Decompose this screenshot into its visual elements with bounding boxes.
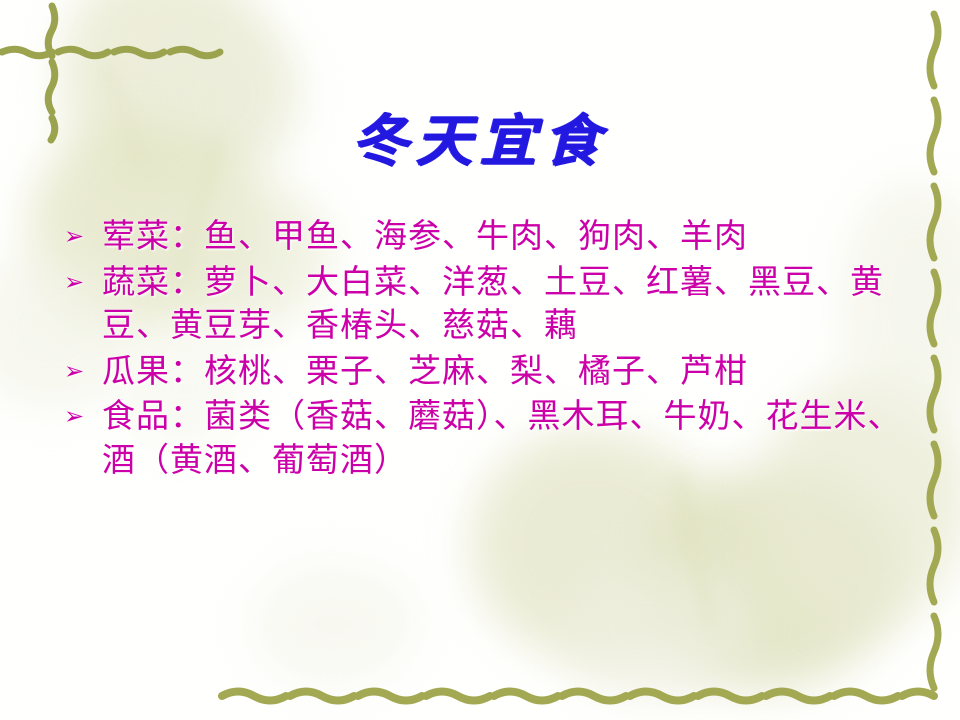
list-item[interactable]: ➢ 蔬菜：萝卜、大白菜、洋葱、土豆、红薯、黑豆、黄豆、黄豆芽、香椿头、慈菇、藕	[64, 260, 916, 347]
arrow-bullet-icon: ➢	[64, 349, 102, 383]
floral-watermark-blob	[250, 560, 420, 690]
arrow-bullet-icon: ➢	[64, 214, 102, 248]
list-item-text: 食品：菌类（香菇、蘑菇）、黑木耳、牛奶、花生米、酒（黄酒、葡萄酒）	[102, 394, 916, 481]
list-item-text: 荤菜：鱼、甲鱼、海参、牛肉、狗肉、羊肉	[102, 214, 916, 258]
list-item[interactable]: ➢ 食品：菌类（香菇、蘑菇）、黑木耳、牛奶、花生米、酒（黄酒、葡萄酒）	[64, 394, 916, 481]
content-bullet-list: ➢ 荤菜：鱼、甲鱼、海参、牛肉、狗肉、羊肉 ➢ 蔬菜：萝卜、大白菜、洋葱、土豆、…	[64, 214, 916, 483]
arrow-bullet-icon: ➢	[64, 260, 102, 294]
arrow-bullet-icon: ➢	[64, 394, 102, 428]
slide-title: 冬天宜食	[0, 96, 960, 177]
list-item-text: 蔬菜：萝卜、大白菜、洋葱、土豆、红薯、黑豆、黄豆、黄豆芽、香椿头、慈菇、藕	[102, 260, 916, 347]
presentation-slide: 冬天宜食 ➢ 荤菜：鱼、甲鱼、海参、牛肉、狗肉、羊肉 ➢ 蔬菜：萝卜、大白菜、洋…	[0, 0, 960, 720]
list-item[interactable]: ➢ 荤菜：鱼、甲鱼、海参、牛肉、狗肉、羊肉	[64, 214, 916, 258]
floral-watermark-blob	[560, 560, 750, 700]
floral-watermark-blob	[640, 470, 900, 690]
vine-border-bottom	[0, 676, 960, 716]
list-item[interactable]: ➢ 瓜果：核桃、栗子、芝麻、梨、橘子、芦柑	[64, 349, 916, 393]
list-item-text: 瓜果：核桃、栗子、芝麻、梨、橘子、芦柑	[102, 349, 916, 393]
leaf-stem-watermark	[673, 471, 714, 629]
